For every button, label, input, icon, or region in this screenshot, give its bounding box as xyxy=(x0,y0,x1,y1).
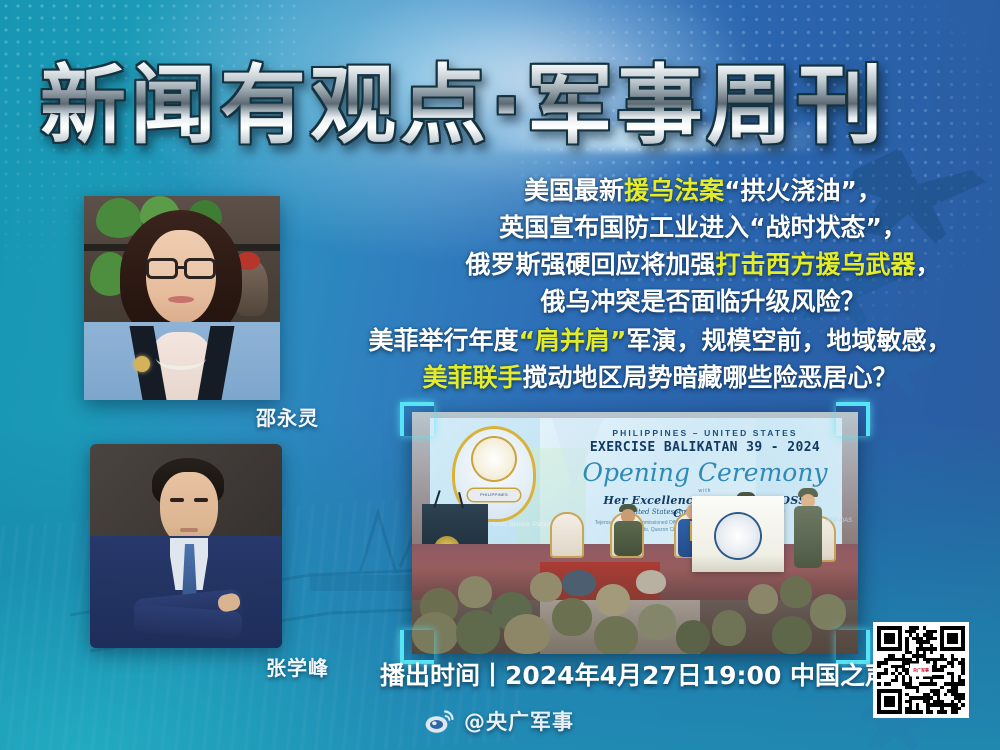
broadcast-time: 播出时间丨2024年4月27日19:00 中国之声 xyxy=(380,656,880,692)
program-title: 新闻有观点·军事周刊 xyxy=(40,52,960,162)
qr-center-label: 央广军事 xyxy=(910,664,932,677)
headline-text: 俄乌冲突是否面临升级风险？ xyxy=(540,287,865,316)
headline-highlight: 打击西方援乌武器 xyxy=(715,250,915,279)
headline-text: ， xyxy=(916,250,941,279)
screen-line-2: EXERCISE BALIKATAN 39 - 2024 xyxy=(580,440,830,455)
headline-block-2: 美菲举行年度“肩并肩”军演，规模空前，地域敏感，美菲联手搅动地区局势暗藏哪些险恶… xyxy=(330,322,990,396)
headline-text: 美国最新 xyxy=(524,176,624,205)
headline-text: “拱火浇油”， xyxy=(724,176,882,205)
headline-highlight: “肩并肩” xyxy=(519,326,627,355)
headline-text: 搅动地区局势暗藏哪些险恶居心？ xyxy=(523,363,898,392)
guest-photo-1 xyxy=(84,196,280,400)
headline-line: 美菲举行年度“肩并肩”军演，规模空前，地域敏感， xyxy=(330,322,990,359)
headline-line: 英国宣布国防工业进入“战时状态”， xyxy=(418,209,988,246)
weibo-handle: @央广军事 xyxy=(464,706,574,736)
seated-officer xyxy=(614,504,642,556)
screen-line-3: Opening Ceremony xyxy=(580,458,830,487)
guest-name-1: 邵永灵 xyxy=(256,402,319,431)
headline-highlight: 美菲联手 xyxy=(422,363,522,392)
program-title-text: 新闻有观点·军事周刊 xyxy=(40,52,960,160)
guest-photo-2 xyxy=(90,444,282,648)
photo-watermark: AFP-OAS xyxy=(826,518,852,524)
headline-line: 俄罗斯强硬回应将加强打击西方援乌武器， xyxy=(418,246,988,283)
center-photo: PHILIPPINES PHILIPPINES – UNITED STATES … xyxy=(412,412,858,654)
headline-line: 俄乌冲突是否面临升级风险？ xyxy=(418,283,988,320)
weibo-icon xyxy=(425,708,455,734)
poster-canvas: 新闻有观点·军事周刊 美国最新援乌法案“拱火浇油”，英国宣布国防工业进入“战时状… xyxy=(0,0,1000,750)
headline-block-1: 美国最新援乌法案“拱火浇油”，英国宣布国防工业进入“战时状态”，俄罗斯强硬回应将… xyxy=(418,172,988,320)
headline-highlight: 援乌法案 xyxy=(624,176,724,205)
weibo-credit: @央广军事 xyxy=(425,706,574,736)
headline-text: 英国宣布国防工业进入“战时状态”， xyxy=(499,213,907,242)
headline-line: 美菲联手搅动地区局势暗藏哪些险恶居心？ xyxy=(330,359,990,396)
screen-line-1: PHILIPPINES – UNITED STATES xyxy=(580,428,830,438)
podium-text: Honor, Service, Patriotism xyxy=(490,522,559,528)
headline-text: 军演，规模空前，地域敏感， xyxy=(626,326,951,355)
headline-text: 俄罗斯强硬回应将加强 xyxy=(465,250,715,279)
audience-crowd xyxy=(412,554,858,654)
headline-line: 美国最新援乌法案“拱火浇油”， xyxy=(418,172,988,209)
qr-code[interactable]: 央广军事 xyxy=(873,622,969,718)
headline-text: 美菲举行年度 xyxy=(369,326,519,355)
guest-name-2: 张学峰 xyxy=(266,652,329,681)
